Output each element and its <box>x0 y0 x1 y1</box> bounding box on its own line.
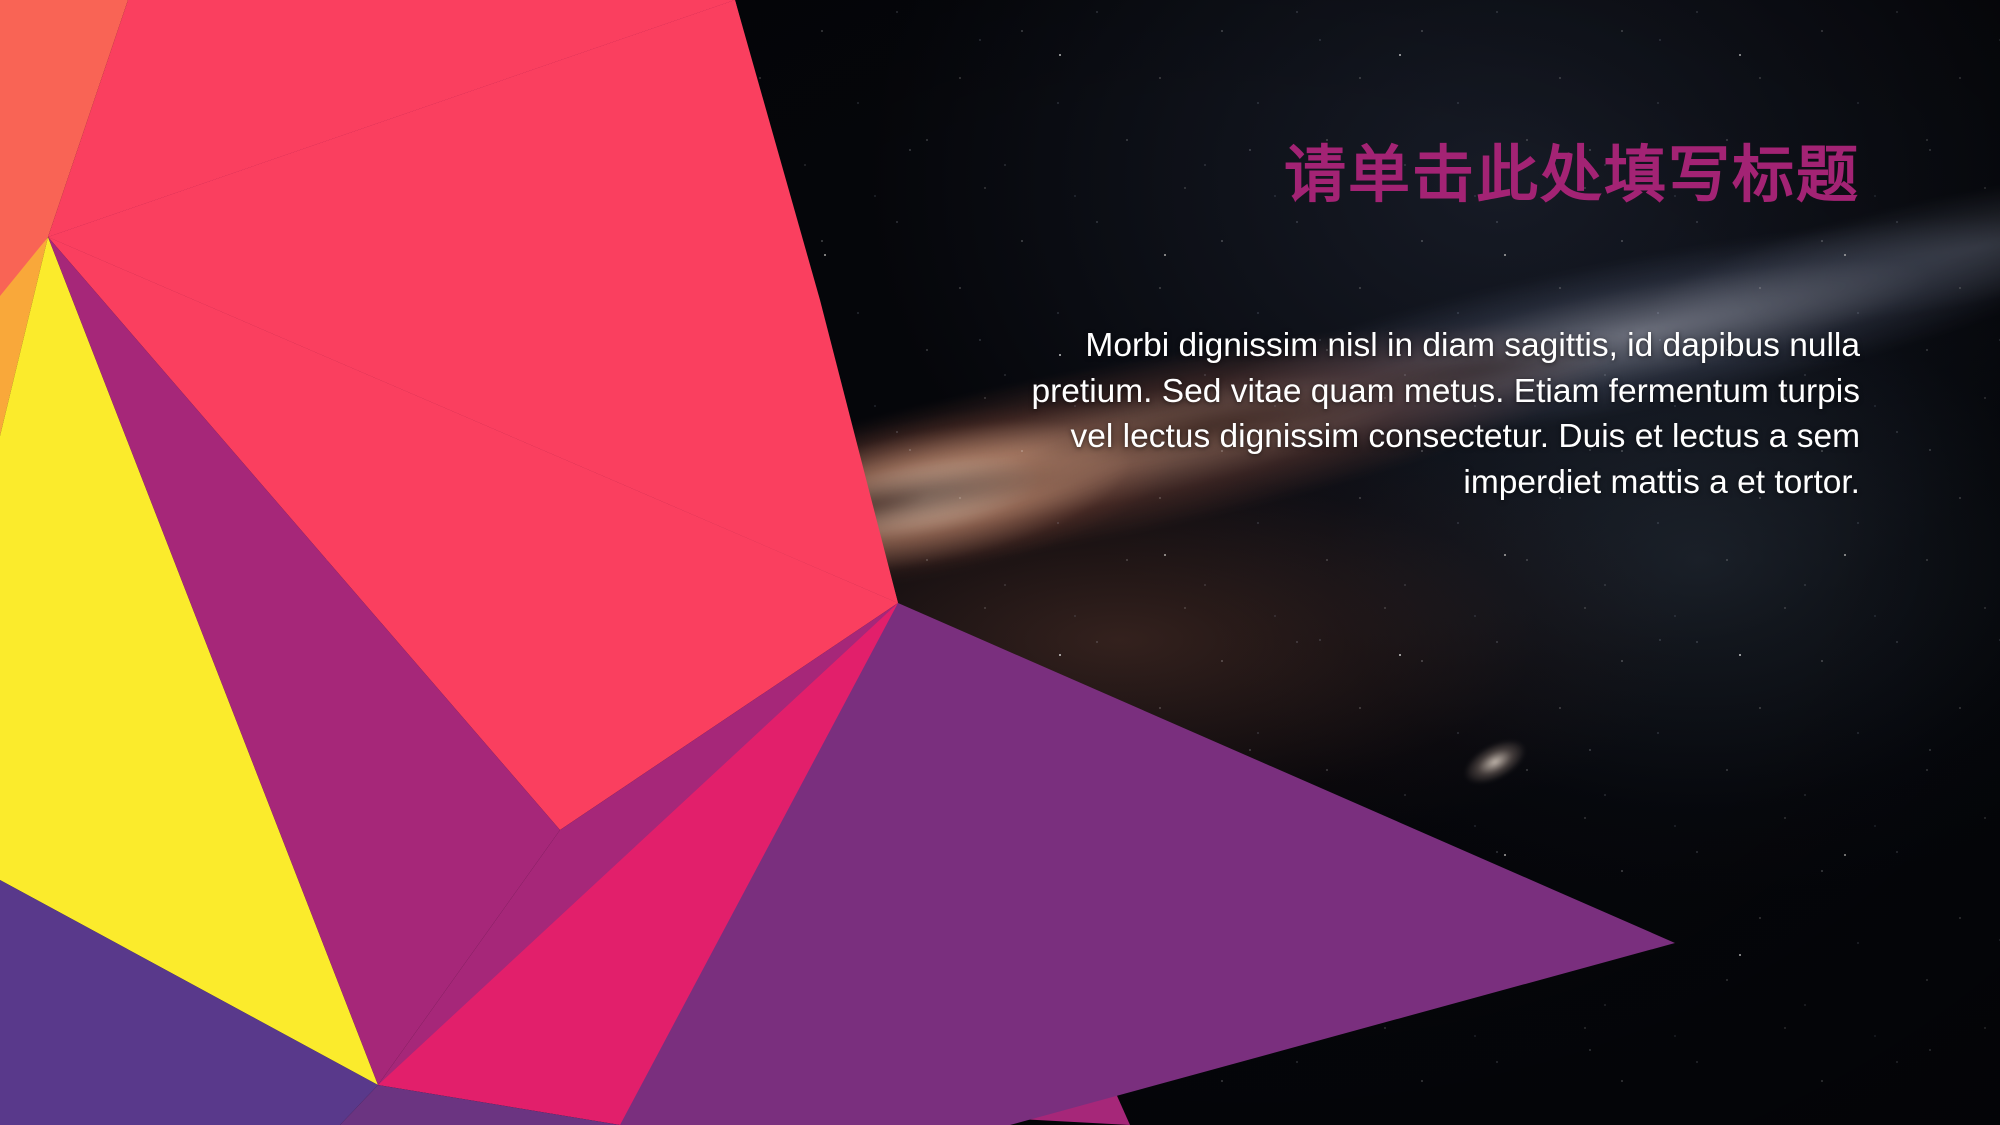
slide-body-text[interactable]: Morbi dignissim nisl in diam sagittis, i… <box>980 323 1860 505</box>
slide-text-column: 请单击此处填写标题 Morbi dignissim nisl in diam s… <box>980 140 1860 505</box>
presentation-slide: 请单击此处填写标题 Morbi dignissim nisl in diam s… <box>0 0 2000 1125</box>
page-title[interactable]: 请单击此处填写标题 <box>980 140 1860 211</box>
